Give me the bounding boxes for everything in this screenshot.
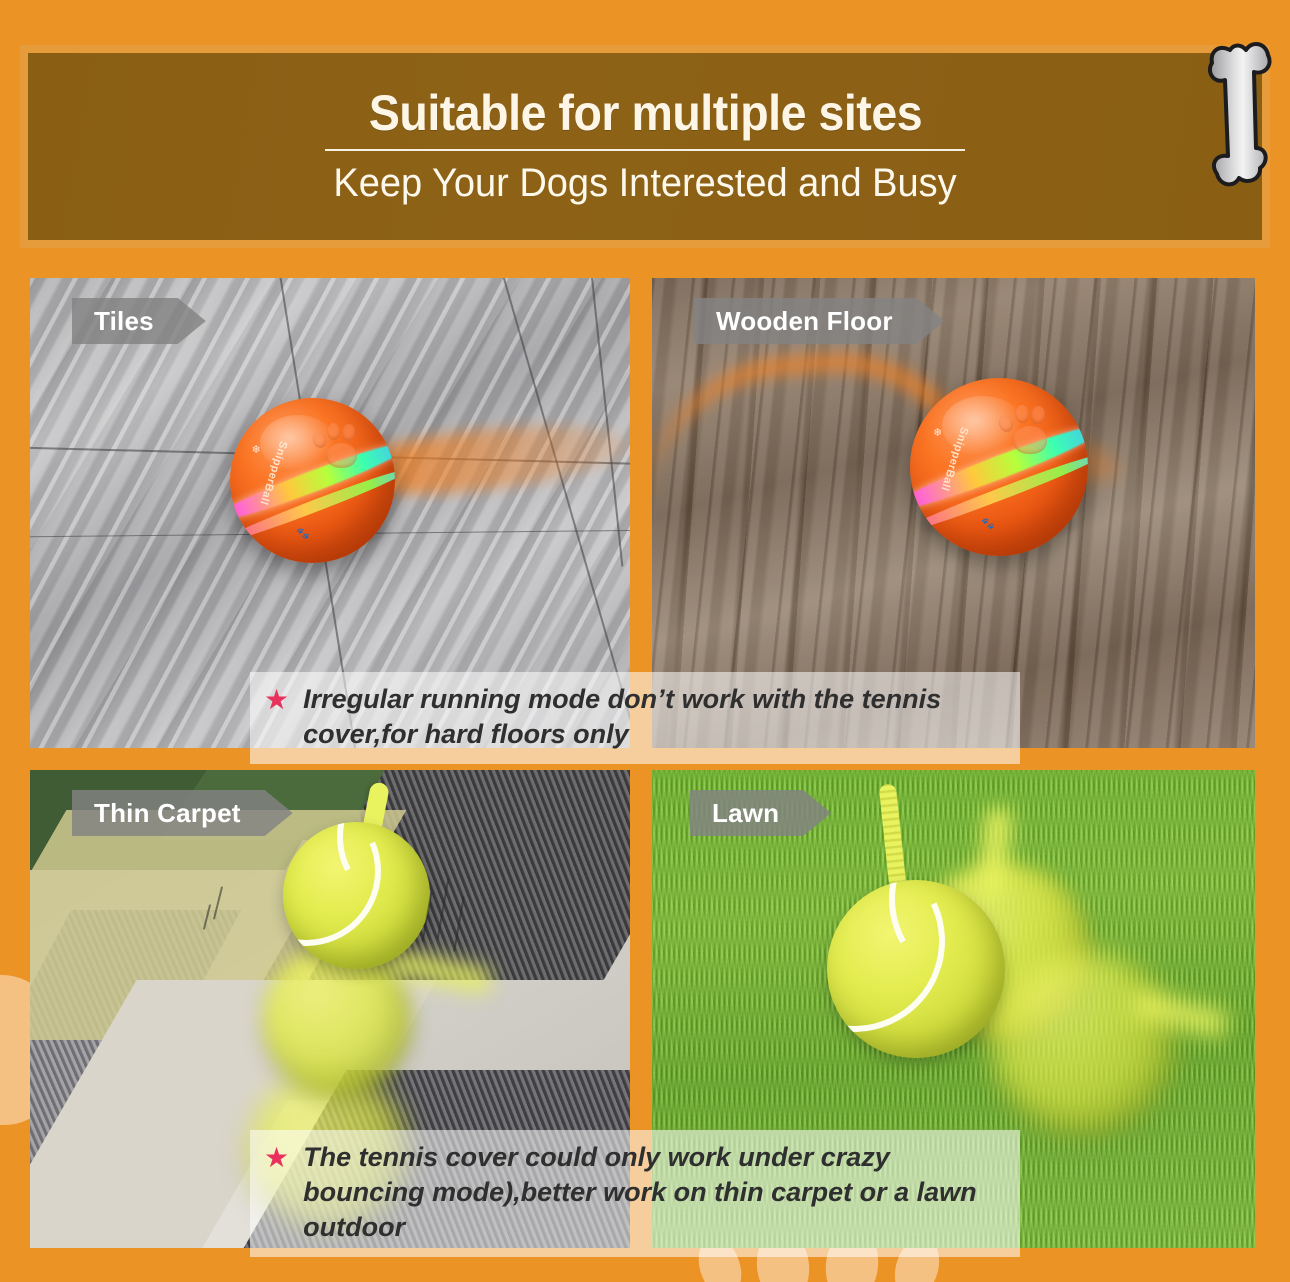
- caption-hard-floors: ★ Irregular running mode don’t work with…: [250, 672, 1020, 764]
- tennis-ball-ghost: [990, 950, 1174, 1134]
- tile-seam: [590, 278, 623, 566]
- bone-icon: [1208, 28, 1280, 203]
- panel-label-text: Wooden Floor: [716, 306, 893, 337]
- paw-emboss: [309, 419, 368, 472]
- smart-ball: SnipperBall ❄ 🐾: [910, 378, 1088, 556]
- panel-label-text: Lawn: [712, 798, 779, 829]
- star-icon: ★: [264, 684, 289, 716]
- caption-tennis-cover: ★ The tennis cover could only work under…: [250, 1130, 1020, 1257]
- ball-mini-paw-icon: 🐾: [981, 517, 995, 530]
- header-inner-box: Suitable for multiple sites Keep Your Do…: [28, 53, 1262, 240]
- panel-label-lawn: Lawn: [690, 790, 831, 836]
- smart-ball: SnipperBall ❄ 🐾: [230, 398, 395, 563]
- page-subtitle: Keep Your Dogs Interested and Busy: [333, 161, 956, 206]
- header-banner: Suitable for multiple sites Keep Your Do…: [20, 45, 1270, 248]
- ball-mini-paw-icon: ❄: [933, 426, 942, 439]
- title-divider: [325, 149, 965, 151]
- ball-mini-paw-icon: 🐾: [296, 527, 310, 540]
- ball-mini-paw-icon: ❄: [251, 443, 260, 456]
- paw-emboss: [995, 401, 1059, 458]
- page-title: Suitable for multiple sites: [368, 87, 921, 140]
- panel-label-text: Thin Carpet: [94, 798, 241, 829]
- star-icon: ★: [264, 1142, 289, 1174]
- panel-label-tiles: Tiles: [72, 298, 206, 344]
- panel-label-thin-carpet: Thin Carpet: [72, 790, 293, 836]
- panel-label-wooden-floor: Wooden Floor: [694, 298, 945, 344]
- tennis-ball: [827, 880, 1005, 1058]
- tennis-ball: [283, 822, 430, 969]
- panel-label-text: Tiles: [94, 306, 154, 337]
- caption-text: Irregular running mode don’t work with t…: [303, 682, 1002, 752]
- caption-text: The tennis cover could only work under c…: [303, 1140, 1002, 1245]
